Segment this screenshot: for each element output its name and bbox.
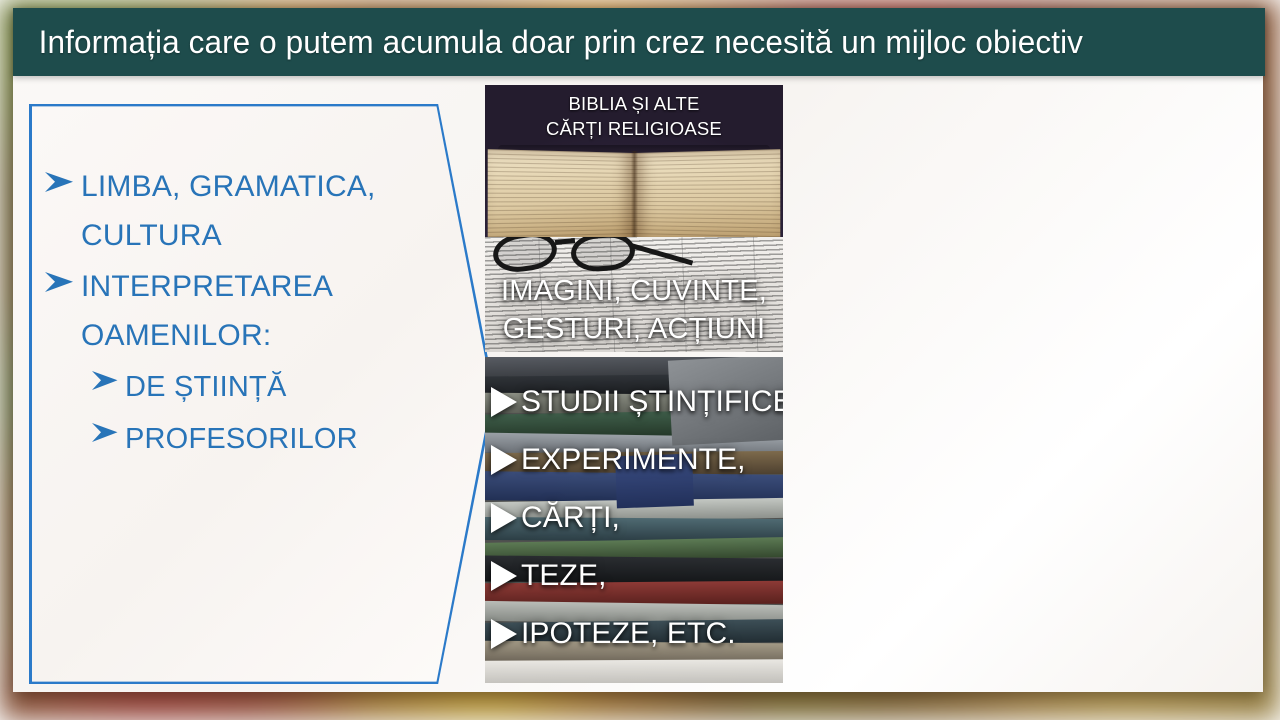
bible-religious-books-image: BIBLIA ȘI ALTE CĂRȚI RELIGIOASE IMAGINI,… — [485, 85, 783, 352]
image-heading-line-2: CĂRȚI RELIGIOASE — [485, 116, 783, 141]
list-item: LIMBA, GRAMATICA, CULTURA — [44, 162, 444, 260]
list-item-label: TEZE, — [521, 559, 607, 593]
play-triangle-icon — [491, 561, 517, 591]
arrow-bullet-icon — [91, 414, 119, 445]
image-caption: IMAGINI, CUVINTE, GESTURI, ACȚIUNI — [485, 272, 783, 348]
play-triangle-icon — [491, 503, 517, 533]
bullet-list: LIMBA, GRAMATICA, CULTURA INTERPRETAREA … — [44, 162, 444, 466]
list-item-label: DE ȘTIINȚĂ — [125, 362, 287, 412]
arrow-bullet-icon — [44, 262, 75, 296]
list-item-label: EXPERIMENTE, — [521, 443, 746, 477]
list-item: TEZE, — [491, 547, 783, 605]
list-item: EXPERIMENTE, — [491, 431, 783, 489]
list-item: STUDII ȘTINȚIFICE, — [491, 373, 783, 431]
list-item: DE ȘTIINȚĂ — [44, 362, 444, 412]
arrow-bullet-icon — [44, 162, 75, 196]
list-item: IPOTEZE, ETC. — [491, 605, 783, 663]
list-item-label: INTERPRETAREA OAMENILOR: — [81, 262, 333, 360]
slide-title-bar: Informația care o putem acumula doar pri… — [13, 8, 1265, 76]
play-triangle-icon — [491, 387, 517, 417]
list-item-label: LIMBA, GRAMATICA, CULTURA — [81, 162, 376, 260]
image-caption-line-1: IMAGINI, CUVINTE, — [485, 272, 783, 310]
callout-left-border — [29, 104, 32, 684]
image-heading-line-1: BIBLIA ȘI ALTE — [485, 91, 783, 116]
page-title: Informația care o putem acumula doar pri… — [13, 26, 1083, 58]
list-item-label: IPOTEZE, ETC. — [521, 617, 736, 651]
play-triangle-icon — [491, 445, 517, 475]
open-book-graphic — [498, 145, 770, 241]
image-heading: BIBLIA ȘI ALTE CĂRȚI RELIGIOASE — [485, 91, 783, 141]
list-item: CĂRȚI, — [491, 489, 783, 547]
list-item-label: STUDII ȘTINȚIFICE, — [521, 385, 783, 419]
play-triangle-icon — [491, 619, 517, 649]
list-item-label: CĂRȚI, — [521, 501, 620, 535]
image-caption-list: STUDII ȘTINȚIFICE, EXPERIMENTE, CĂRȚI, T… — [485, 357, 783, 683]
book-stack-image: STUDII ȘTINȚIFICE, EXPERIMENTE, CĂRȚI, T… — [485, 357, 783, 683]
list-item: INTERPRETAREA OAMENILOR: — [44, 262, 444, 360]
arrow-bullet-icon — [91, 362, 119, 393]
list-item-label: PROFESORILOR — [125, 414, 358, 464]
image-caption-line-2: GESTURI, ACȚIUNI — [485, 310, 783, 348]
list-item: PROFESORILOR — [44, 414, 444, 464]
